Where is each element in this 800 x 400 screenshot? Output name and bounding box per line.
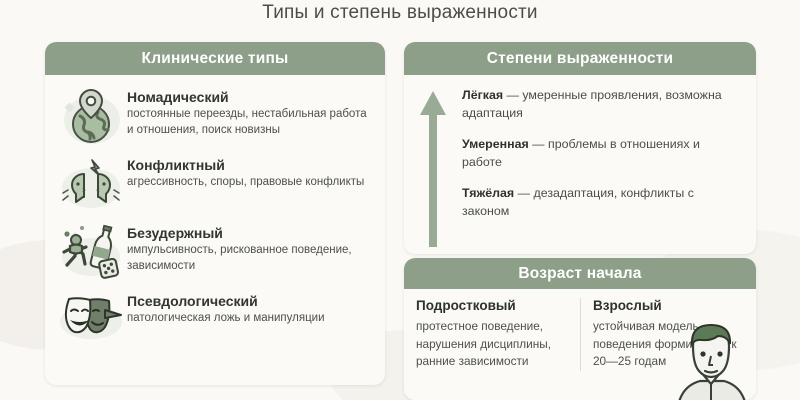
page-title: Типы и степень выраженности [0,2,800,24]
clinical-type-desc: патологическая ложь и манипуляции [127,311,325,327]
severity-line: Тяжёлая — дезадаптация, конфликты с зако… [462,185,734,221]
severity-body: Лёгкая — умеренные проявления, возможна … [404,75,756,253]
clinical-types-list: Номадический постоянные переезды, нестаб… [45,75,385,353]
list-item: Номадический постоянные переезды, нестаб… [45,81,385,149]
severity-name: Тяжёлая [462,186,514,200]
arguing-heads-icon [55,153,127,215]
list-item-text: Конфликтный агрессивность, споры, правов… [127,153,364,191]
clinical-type-name: Безудержный [127,225,375,241]
list-item: Тяжёлая — дезадаптация, конфликты с зако… [462,185,734,221]
up-arrow-icon [404,85,462,253]
age-of-onset-card: Возраст начала Подростковый протестное п… [404,258,756,400]
running-bottle-dice-icon [55,221,127,283]
severity-card: Степени выраженности Лёгкая — умеренные … [404,42,756,254]
age-of-onset-body: Подростковый протестное поведение, наруш… [404,289,756,371]
list-item: Лёгкая — умеренные проявления, возможна … [462,87,734,123]
severity-dash: — [518,186,530,200]
clinical-types-header: Клинические типы [45,42,385,75]
globe-pin-icon [55,85,127,147]
list-item-text: Псевдологический патологическая ложь и м… [127,289,325,327]
severity-name: Умеренная [462,137,529,151]
severity-list: Лёгкая — умеренные проявления, возможна … [462,85,734,253]
infographic-page: Типы и степень выраженности Клинические … [0,0,800,400]
clinical-types-card: Клинические типы Номадич [45,42,385,385]
clinical-type-name: Конфликтный [127,157,364,173]
severity-dash: — [507,88,519,102]
list-item: Умеренная — проблемы в отношениях и рабо… [462,136,734,172]
severity-name: Лёгкая [462,88,503,102]
age-column-name: Подростковый [416,298,568,313]
clinical-type-name: Псевдологический [127,293,325,309]
list-item: Конфликтный агрессивность, споры, правов… [45,149,385,217]
clinical-type-desc: постоянные переезды, нестабильная работа… [127,107,375,139]
clinical-type-desc: импульсивность, рискованное поведение, з… [127,243,375,275]
clinical-type-name: Номадический [127,89,375,105]
list-item-text: Номадический постоянные переезды, нестаб… [127,85,375,139]
severity-dash: — [532,137,544,151]
severity-header: Степени выраженности [404,42,756,75]
age-column-adolescent: Подростковый протестное поведение, наруш… [404,298,580,371]
severity-line: Умеренная — проблемы в отношениях и рабо… [462,136,734,172]
age-column-desc: протестное поведение, нарушения дисципли… [416,318,568,371]
list-item: Псевдологический патологическая ложь и м… [45,285,385,353]
clinical-type-desc: агрессивность, споры, правовые конфликты [127,175,364,191]
man-bust-icon [666,320,756,400]
age-of-onset-header: Возраст начала [404,258,756,289]
age-column-name: Взрослый [593,298,744,313]
severity-line: Лёгкая — умеренные проявления, возможна … [462,87,734,123]
list-item-text: Безудержный импульсивность, рискованное … [127,221,375,275]
theater-masks-icon [55,289,127,351]
list-item: Безудержный импульсивность, рискованное … [45,217,385,285]
